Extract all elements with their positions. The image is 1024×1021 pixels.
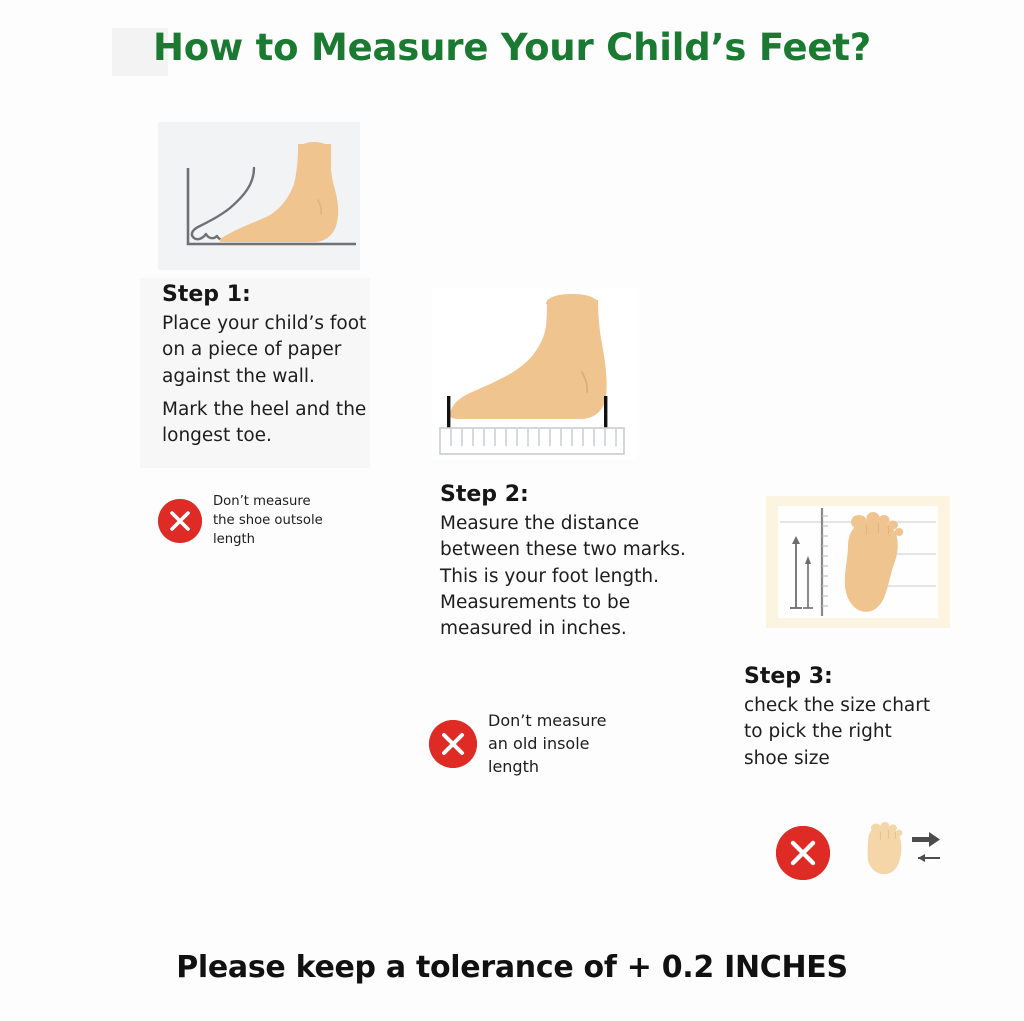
- footprint-on-paper-svg: [766, 496, 950, 628]
- red-x-circle-icon: [429, 720, 477, 768]
- red-x-circle-icon: [158, 499, 202, 543]
- step-1-body: Place your child’s foot on a piece of pa…: [162, 311, 382, 390]
- red-x-circle-icon: [776, 826, 830, 880]
- foot-squeeze-icon: [854, 821, 948, 884]
- warning-shoe-outsole-text: Don’t measure the shoe outsole length: [213, 492, 323, 549]
- step-1-body-secondary: Mark the heel and the longest toe.: [162, 397, 382, 450]
- footprint-on-paper-illustration: [766, 496, 950, 628]
- foot-against-wall-svg: [158, 122, 360, 270]
- step-1-heading: Step 1:: [162, 282, 382, 307]
- step-3-block: Step 3: check the size chart to pick the…: [744, 664, 974, 772]
- foot-with-ruler-illustration: [432, 288, 638, 460]
- warning-foot-squeeze: [776, 821, 948, 884]
- foot-with-ruler-svg: [432, 288, 638, 460]
- tolerance-note: Please keep a tolerance of + 0.2 INCHES: [0, 950, 1024, 985]
- foot-against-wall-illustration: [158, 122, 360, 270]
- step-1-block: Step 1: Place your child’s foot on a pie…: [162, 282, 382, 449]
- step-3-heading: Step 3:: [744, 664, 974, 689]
- warning-old-insole-text: Don’t measure an old insole length: [488, 709, 606, 779]
- warning-old-insole: Don’t measure an old insole length: [429, 709, 606, 779]
- step-2-body: Measure the distance between these two m…: [440, 511, 740, 642]
- page-title: How to Measure Your Child’s Feet?: [0, 26, 1024, 69]
- step-3-body: check the size chart to pick the right s…: [744, 693, 974, 772]
- step-2-block: Step 2: Measure the distance between the…: [440, 482, 740, 642]
- step-2-heading: Step 2:: [440, 482, 740, 507]
- warning-shoe-outsole: Don’t measure the shoe outsole length: [158, 492, 323, 549]
